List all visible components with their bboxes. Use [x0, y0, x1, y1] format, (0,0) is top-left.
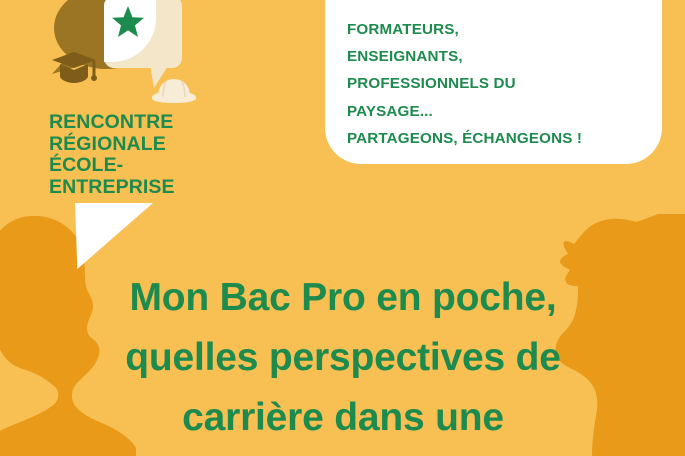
logo-wordmark: RENCONTRE RÉGIONALE ÉCOLE- ENTREPRISE: [49, 112, 259, 198]
hard-hat-icon: [152, 79, 196, 103]
poster-canvas: RENCONTRE RÉGIONALE ÉCOLE- ENTREPRISE FO…: [0, 0, 685, 456]
callout-tail: [75, 203, 153, 269]
callout-text: FORMATEURS, ENSEIGNANTS, PROFESSIONNELS …: [347, 16, 647, 152]
logo-mark: [26, 0, 206, 116]
page-title: Mon Bac Pro en poche, quelles perspectiv…: [60, 268, 626, 448]
callout-speech-bubble: FORMATEURS, ENSEIGNANTS, PROFESSIONNELS …: [325, 0, 662, 164]
